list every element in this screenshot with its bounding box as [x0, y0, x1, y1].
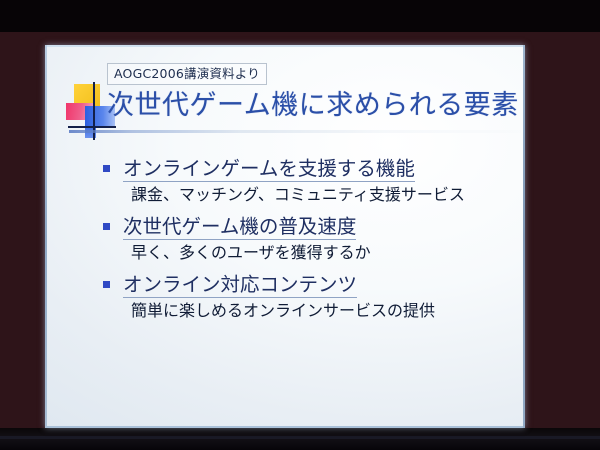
projected-slide-photo: AOGC2006講演資料より 次世代ゲーム機に求められる要素 オンラインゲームを…	[0, 0, 600, 450]
bullet-item: オンライン対応コンテンツ	[101, 271, 513, 298]
room-ceiling-shadow	[0, 0, 600, 32]
bullet-item: 次世代ゲーム機の普及速度	[101, 213, 513, 240]
source-tag: AOGC2006講演資料より	[107, 63, 267, 85]
bullet-lead-text: オンライン対応コンテンツ	[123, 273, 357, 298]
bullet-square-icon	[103, 281, 110, 288]
bullet-sub-text: 課金、マッチング、コミュニティ支援サービス	[101, 182, 513, 207]
slide-edge-bottom	[45, 426, 525, 428]
slide-edge-top	[45, 45, 525, 47]
bullet-item: オンラインゲームを支援する機能	[101, 155, 513, 182]
bullet-lead-text: オンラインゲームを支援する機能	[123, 157, 415, 182]
room-floor-highlight	[0, 436, 600, 439]
title-underline-rule	[69, 130, 521, 133]
bullet-block: オンラインゲームを支援する機能 課金、マッチング、コミュニティ支援サービス	[101, 155, 513, 207]
slide-title: 次世代ゲーム機に求められる要素	[107, 89, 519, 123]
bullet-square-icon	[103, 165, 110, 172]
logo-horizontal-line	[68, 126, 116, 128]
bullet-sub-text: 早く、多くのユーザを獲得するか	[101, 240, 513, 265]
bullet-block: オンライン対応コンテンツ 簡単に楽しめるオンラインサービスの提供	[101, 271, 513, 323]
bullet-lead-text: 次世代ゲーム機の普及速度	[123, 215, 356, 240]
slide-edge-left	[45, 45, 47, 428]
bullet-block: 次世代ゲーム機の普及速度 早く、多くのユーザを獲得するか	[101, 213, 513, 265]
presentation-slide: AOGC2006講演資料より 次世代ゲーム機に求められる要素 オンラインゲームを…	[45, 45, 525, 428]
bullet-square-icon	[103, 223, 110, 230]
slide-body: オンラインゲームを支援する機能 課金、マッチング、コミュニティ支援サービス 次世…	[101, 155, 513, 329]
bullet-sub-text: 簡単に楽しめるオンラインサービスの提供	[101, 298, 513, 323]
slide-edge-right	[523, 45, 525, 428]
room-floor-shadow	[0, 428, 600, 450]
